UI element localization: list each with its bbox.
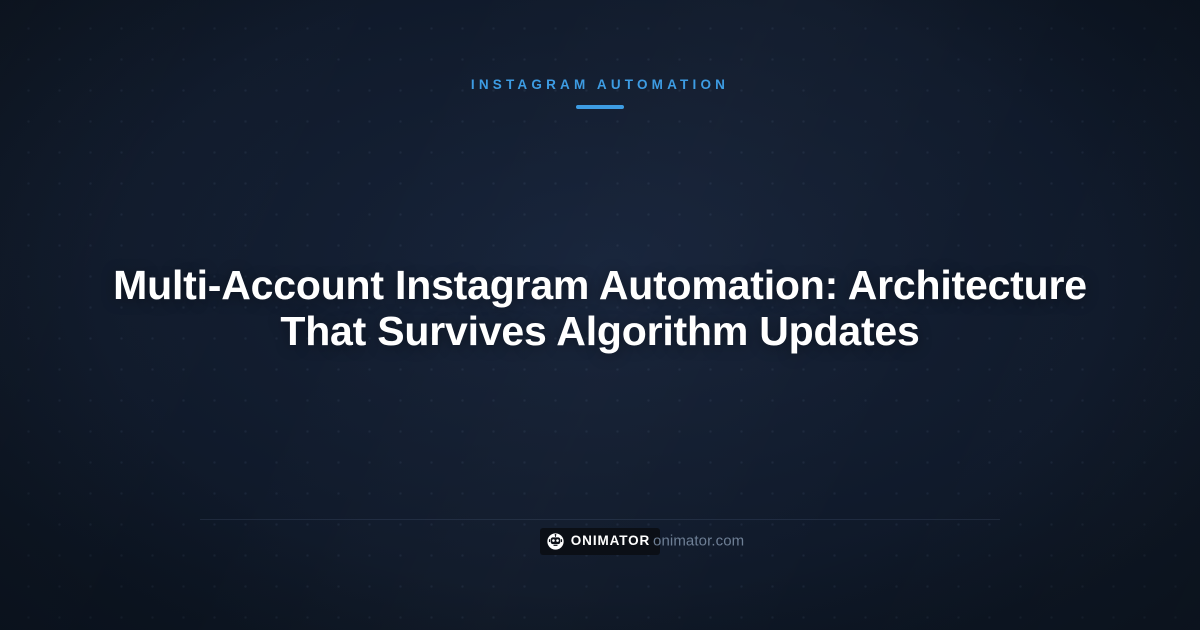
card-content: Instagram Automation Multi-Account Insta… — [0, 0, 1200, 630]
site-url: onimator.com — [653, 533, 744, 550]
category-eyebrow: Instagram Automation — [471, 78, 729, 92]
page-title-line-1: Multi-Account Instagram Automation: Arch… — [100, 265, 1100, 307]
footer-row: ONIMATOR onimator.com — [200, 525, 1000, 557]
page-title: Multi-Account Instagram Automation: Arch… — [100, 265, 1100, 353]
robot-icon — [547, 533, 564, 550]
social-share-card: Instagram Automation Multi-Account Insta… — [0, 0, 1200, 630]
brand-name: ONIMATOR — [571, 534, 650, 548]
brand-badge: ONIMATOR — [540, 528, 660, 555]
card-footer: ONIMATOR onimator.com — [200, 519, 1000, 520]
page-title-line-2: That Survives Algorithm Updates — [100, 311, 1100, 353]
accent-divider-bar — [576, 105, 624, 109]
eyebrow-block: Instagram Automation — [0, 78, 1200, 109]
